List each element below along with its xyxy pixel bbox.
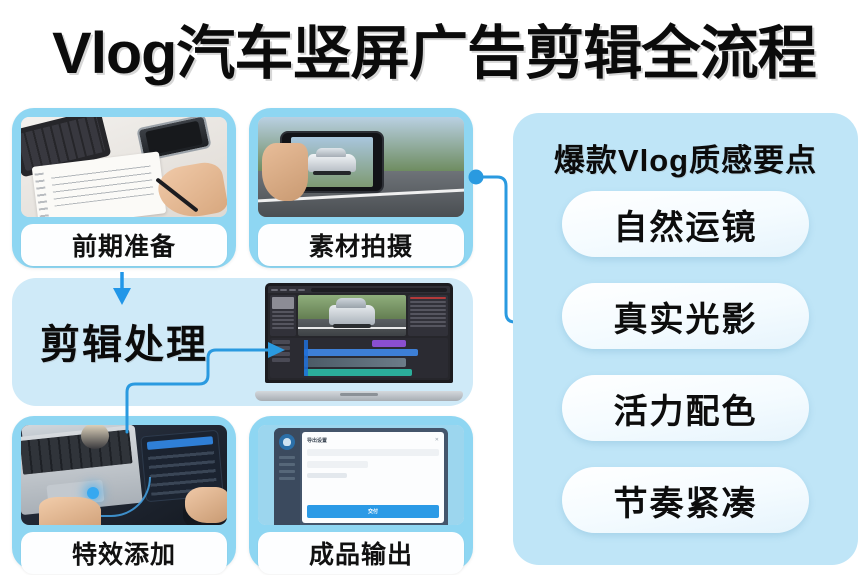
form-field xyxy=(307,449,439,456)
flow-stage-editing[interactable]: 剪辑处理 xyxy=(12,278,473,406)
workflow-area: 前期准备 素材拍摄 剪辑处理 xyxy=(8,108,495,570)
quality-point-tight-rhythm[interactable]: 节奏紧凑 xyxy=(562,467,809,533)
hand-icon xyxy=(185,487,227,523)
quality-point-natural-camera[interactable]: 自然运镜 xyxy=(562,191,809,257)
page-title: Vlog汽车竖屏广告剪辑全流程 xyxy=(0,8,868,88)
car-icon xyxy=(329,305,375,325)
quality-points-panel: 爆款Vlog质感要点 自然运镜 真实光影 活力配色 节奏紧凑 xyxy=(513,113,858,565)
flow-card-effects-label: 特效添加 xyxy=(21,532,227,574)
flow-card-prep-label: 前期准备 xyxy=(21,224,227,266)
hand-icon xyxy=(39,497,101,525)
form-field xyxy=(307,473,347,478)
flow-card-shoot[interactable]: 素材拍摄 xyxy=(249,108,473,268)
avatar xyxy=(279,434,295,450)
export-dialog-title: 导出设置 xyxy=(307,437,327,444)
flow-card-shoot-thumbnail xyxy=(258,117,464,217)
laptop-mockup xyxy=(255,283,463,401)
flow-card-output[interactable]: 导出设置 ✕ 交付 成品输出 xyxy=(249,416,473,570)
quality-points-title: 爆款Vlog质感要点 xyxy=(513,135,858,180)
flow-card-prep[interactable]: 前期准备 xyxy=(12,108,236,268)
editor-preview xyxy=(298,295,406,336)
car-icon xyxy=(308,154,356,172)
hand-icon xyxy=(262,143,308,201)
export-submit-button[interactable]: 交付 xyxy=(307,505,439,518)
flow-card-output-label: 成品输出 xyxy=(258,532,464,574)
flow-stage-editing-label: 剪辑处理 xyxy=(40,312,208,370)
editor-timeline xyxy=(270,338,448,378)
quality-point-real-lighting[interactable]: 真实光影 xyxy=(562,283,809,349)
flow-card-shoot-label: 素材拍摄 xyxy=(258,224,464,266)
form-field xyxy=(307,461,368,468)
glow-dot xyxy=(87,487,99,499)
laptop-base xyxy=(255,391,463,401)
flow-card-effects-thumbnail xyxy=(21,425,227,525)
close-icon[interactable]: ✕ xyxy=(435,437,439,444)
quality-point-vivid-color[interactable]: 活力配色 xyxy=(562,375,809,441)
flow-card-output-thumbnail: 导出设置 ✕ 交付 xyxy=(258,425,464,525)
poster-root: Vlog汽车竖屏广告剪辑全流程 前期准备 xyxy=(0,0,868,575)
export-dialog-mock: 导出设置 ✕ 交付 xyxy=(274,428,448,525)
video-editor-screen xyxy=(268,286,450,380)
flow-card-prep-thumbnail xyxy=(21,117,227,217)
flow-card-effects[interactable]: 特效添加 xyxy=(12,416,236,570)
